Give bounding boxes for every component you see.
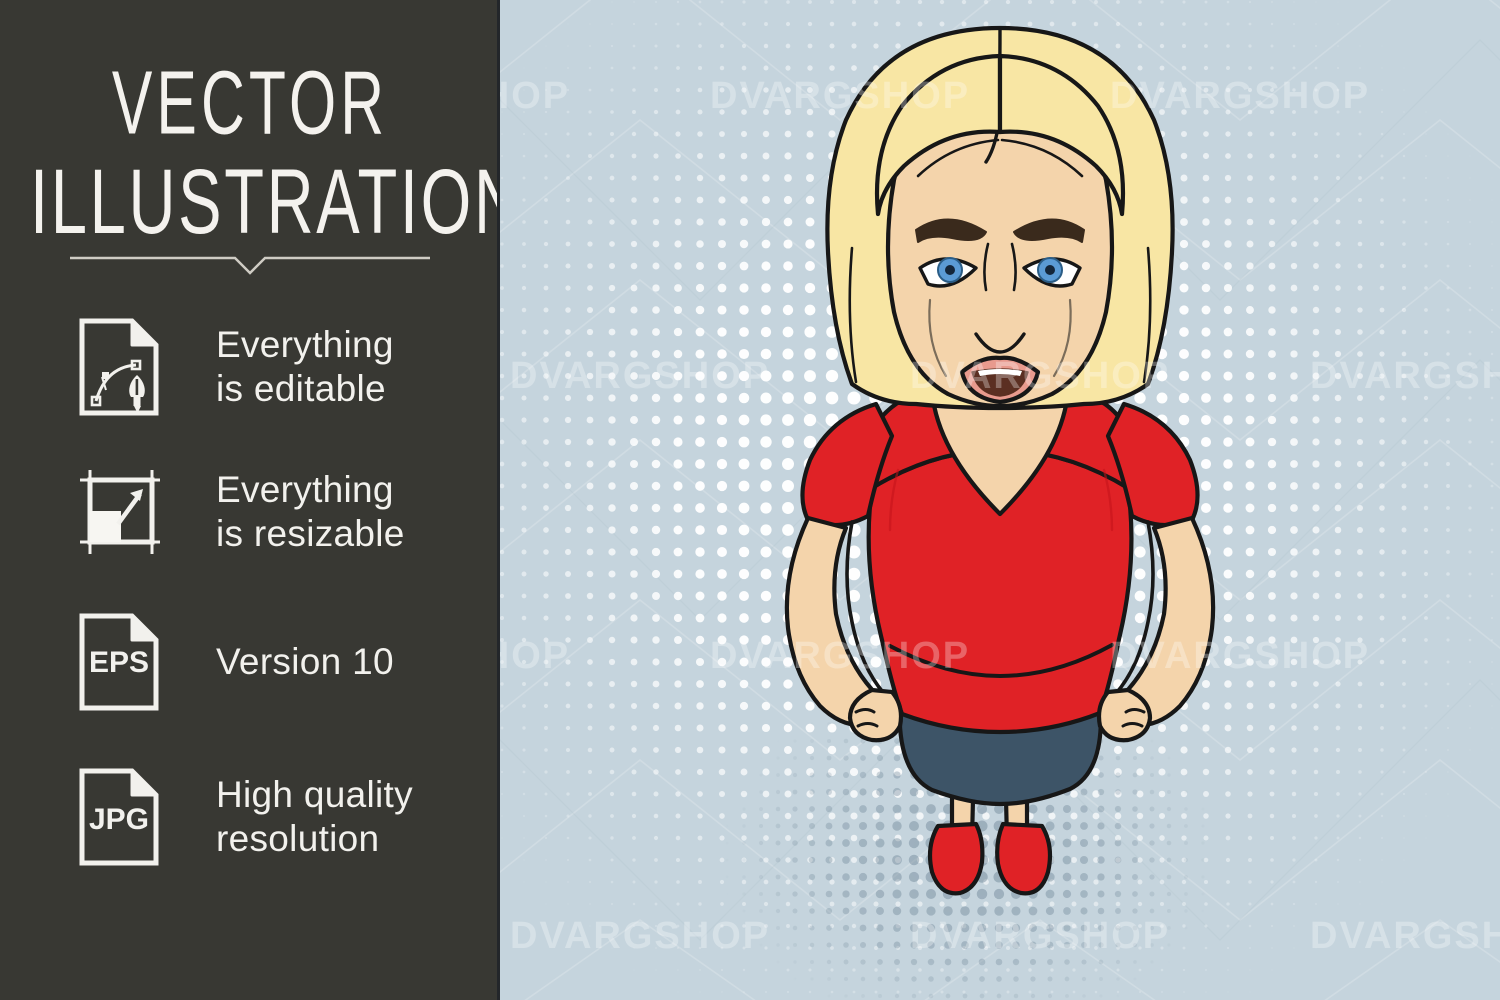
jpg-file-icon: JPG <box>78 767 160 867</box>
jpg-badge-text: JPG <box>89 803 149 836</box>
feature-label-version: Version 10 <box>216 640 394 684</box>
resize-crop-arrow-icon <box>78 462 160 562</box>
title-line-2: ILLUSTRATION <box>30 156 470 248</box>
woman-character-illustration <box>500 0 1500 1000</box>
info-panel: VECTOR ILLUSTRATION <box>0 0 500 1000</box>
eps-badge-text: EPS <box>89 646 149 679</box>
page-title: VECTOR ILLUSTRATION <box>0 58 500 230</box>
feature-label-resizable: Everything is resizable <box>216 468 405 557</box>
feature-row-editable: Everything is editable <box>78 312 478 422</box>
feature-row-version: EPS Version 10 <box>78 607 478 717</box>
feature-row-resizable: Everything is resizable <box>78 457 478 567</box>
feature-label-editable: Everything is editable <box>216 323 394 412</box>
fist-left <box>850 690 901 740</box>
head <box>827 28 1172 408</box>
vector-document-pen-icon <box>78 317 160 417</box>
feature-label-quality: High quality resolution <box>216 773 413 862</box>
shoes <box>930 824 1050 893</box>
eps-file-icon: EPS <box>78 612 160 712</box>
vector-illustration-preview: VECTOR ILLUSTRATION <box>0 0 1500 1000</box>
title-line-1: VECTOR <box>45 58 455 148</box>
artwork-panel: DVARGSHOPDVARGSHOPDVARGSHOPDVARGSHOPDVAR… <box>500 0 1500 1000</box>
fist-right <box>1099 690 1150 740</box>
title-divider <box>70 246 430 276</box>
feature-row-quality: JPG High quality resolution <box>78 762 478 872</box>
